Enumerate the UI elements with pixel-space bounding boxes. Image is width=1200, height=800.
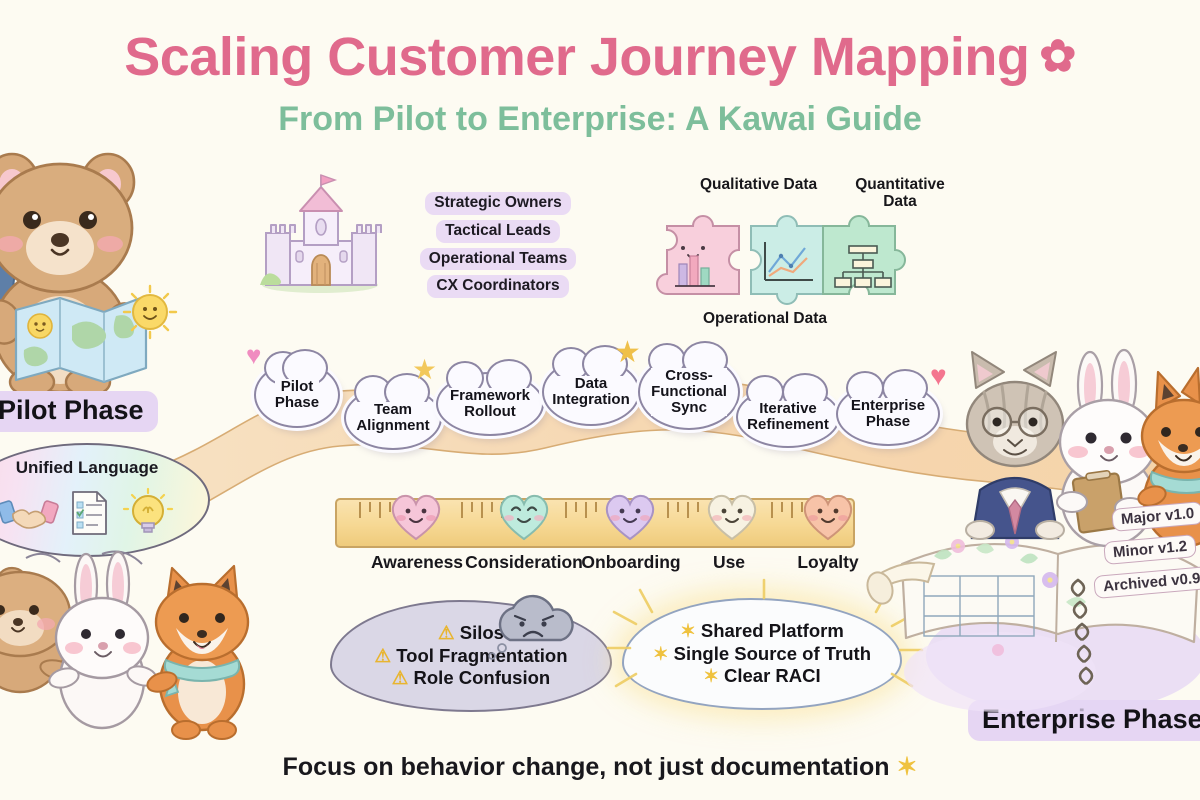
puzzle-label-qualitative: Qualitative Data <box>700 176 817 194</box>
handshake-icon <box>0 492 56 534</box>
unified-language-label: Unified Language <box>0 458 208 478</box>
stage-heart-awareness <box>387 490 445 542</box>
footer-tagline: Focus on behavior change, not just docum… <box>0 752 1200 782</box>
journey-step-cross-functional-sync[interactable]: Cross- Functional Sync <box>638 354 740 430</box>
infographic-canvas: Scaling Customer Journey Mapping✿ From P… <box>0 0 1200 800</box>
sparkle-icon: ✶ <box>653 643 669 664</box>
governance-role-pill: Operational Teams <box>420 248 576 271</box>
star-yellow-icon: ★ <box>412 356 437 384</box>
journey-step-pilot-phase[interactable]: Pilot Phase <box>254 362 340 428</box>
warning-triangle-icon: ⚠ <box>392 667 409 688</box>
stage-heart-consideration <box>495 490 553 542</box>
grumpy-storm-cloud-icon <box>484 596 594 666</box>
flower-icon: ✿ <box>1039 32 1075 81</box>
document-icon <box>67 489 111 537</box>
risk-item: ⚠ Role Confusion <box>392 667 550 690</box>
governance-roles-list: Strategic Owners Tactical Leads Operatio… <box>398 192 598 303</box>
stage-heart-use <box>703 490 761 542</box>
stage-label-loyalty: Loyalty <box>763 552 893 573</box>
stage-heart-onboarding <box>601 490 659 542</box>
warning-triangle-icon: ⚠ <box>438 622 455 643</box>
journey-step-framework-rollout[interactable]: Framework Rollout <box>436 372 544 436</box>
puzzle-pieces-icon <box>655 200 955 315</box>
solution-item: ✶ Single Source of Truth <box>653 643 871 666</box>
page-title: Scaling Customer Journey Mapping✿ <box>0 26 1200 88</box>
stage-heart-loyalty <box>799 490 857 542</box>
lifecycle-ruler: Awareness Consideration Onboarding Use L… <box>335 490 855 570</box>
phase-badge-pilot: Pilot Phase <box>0 391 158 432</box>
sparkle-icon: ✶ <box>703 665 719 686</box>
solution-item: ✶ Clear RACI <box>703 665 820 688</box>
sparkle-icon: ✶ <box>680 620 696 641</box>
governance-role-pill: Strategic Owners <box>425 192 571 215</box>
bear-rabbit-fox-illustration <box>0 552 260 752</box>
governance-role-pill: CX Coordinators <box>427 275 568 298</box>
lightbulb-icon <box>122 487 174 539</box>
journey-step-iterative-refinement[interactable]: Iterative Refinement <box>736 386 840 448</box>
journey-step-team-alignment[interactable]: Team Alignment <box>344 386 442 450</box>
warning-triangle-icon: ⚠ <box>374 645 391 666</box>
page-subtitle: From Pilot to Enterprise: A Kawai Guide <box>0 100 1200 139</box>
solution-item: ✶ Shared Platform <box>680 620 844 643</box>
star-yellow-icon: ★ <box>614 338 641 368</box>
sparkle-icon: ✶ <box>896 753 917 781</box>
footer-text: Focus on behavior change, not just docum… <box>283 753 890 781</box>
castle-illustration <box>256 185 386 295</box>
page-title-text: Scaling Customer Journey Mapping <box>124 27 1029 87</box>
heart-pink-icon: ♥ <box>246 342 261 368</box>
governance-role-pill: Tactical Leads <box>436 220 560 243</box>
data-puzzle-group: Qualitative Data Quantitative Data Opera… <box>655 170 965 335</box>
